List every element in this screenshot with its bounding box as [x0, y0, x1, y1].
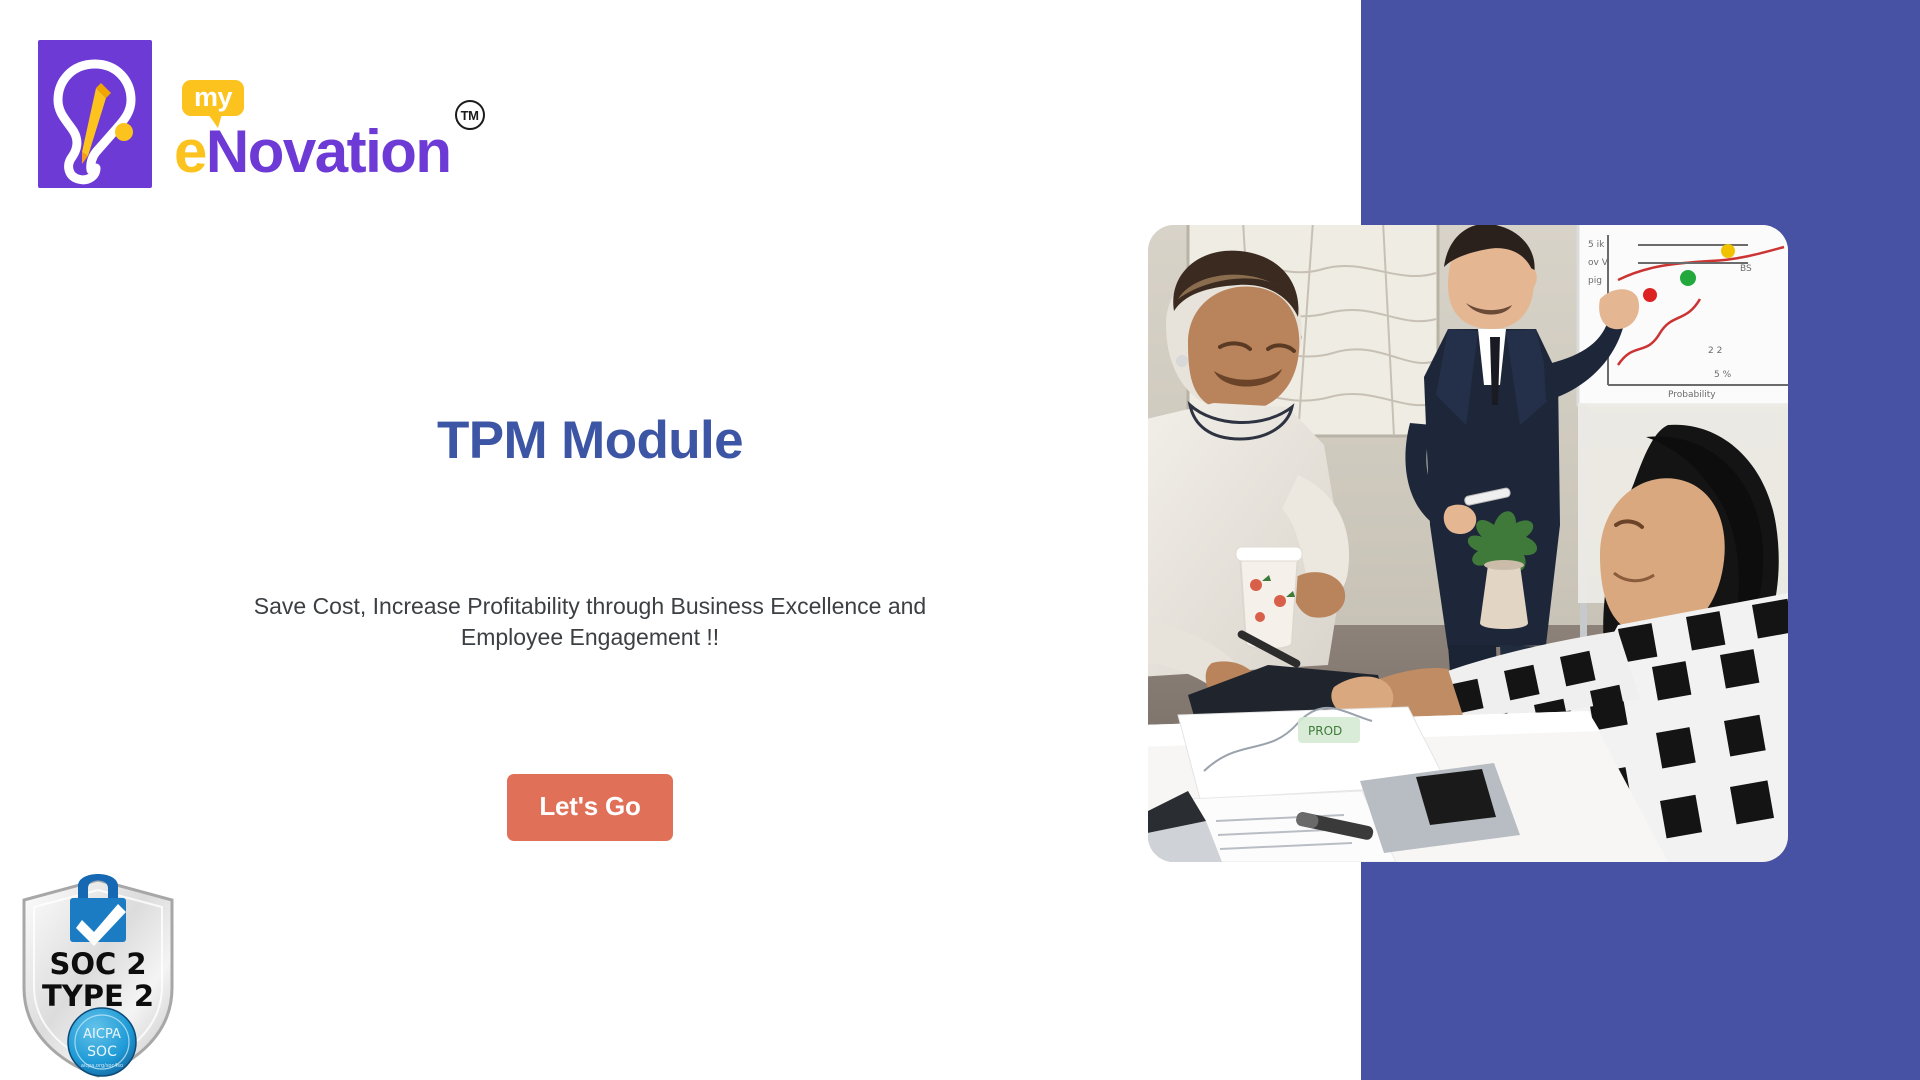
- svg-text:2 2: 2 2: [1708, 346, 1722, 356]
- svg-text:pig: pig: [1588, 276, 1602, 286]
- hero-section: TPM Module Save Cost, Increase Profitabi…: [210, 300, 970, 841]
- badge-line1-text: SOC 2: [49, 947, 146, 981]
- hero-subtitle: Save Cost, Increase Profitability throug…: [210, 591, 970, 652]
- svg-text:Probability: Probability: [1668, 390, 1716, 400]
- svg-text:AICPA: AICPA: [83, 1027, 121, 1042]
- svg-text:SOC: SOC: [87, 1044, 117, 1060]
- svg-text:ov V: ov V: [1588, 258, 1609, 268]
- svg-text:5 %: 5 %: [1714, 370, 1732, 380]
- svg-text:aicpa.org/soc4so: aicpa.org/soc4so: [81, 1063, 123, 1069]
- lets-go-button[interactable]: Let's Go: [507, 774, 672, 841]
- brand-wordmark: my eNovation TM: [174, 122, 451, 188]
- lightbulb-pencil-icon: [38, 40, 152, 188]
- slide-root: my eNovation TM TPM Module Save Cost, In…: [0, 0, 1920, 1080]
- brand-logo[interactable]: my eNovation TM: [38, 40, 451, 188]
- my-bubble-label: my: [182, 80, 244, 116]
- svg-text:PROD: PROD: [1308, 724, 1342, 738]
- trademark-icon: TM: [455, 100, 485, 130]
- soc2-type2-badge: SOC 2 TYPE 2 AICPA SOC aicpa.org/soc4so: [14, 862, 182, 1080]
- svg-text:5 ik: 5 ik: [1588, 240, 1605, 250]
- wordmark-e: e: [174, 118, 206, 185]
- office-meeting-photo: 5 ikov Vpig BS2 25 % Probability: [1148, 225, 1788, 862]
- svg-text:BS: BS: [1740, 264, 1752, 274]
- page-title: TPM Module: [210, 410, 970, 471]
- wordmark-novation: Novation: [206, 118, 451, 185]
